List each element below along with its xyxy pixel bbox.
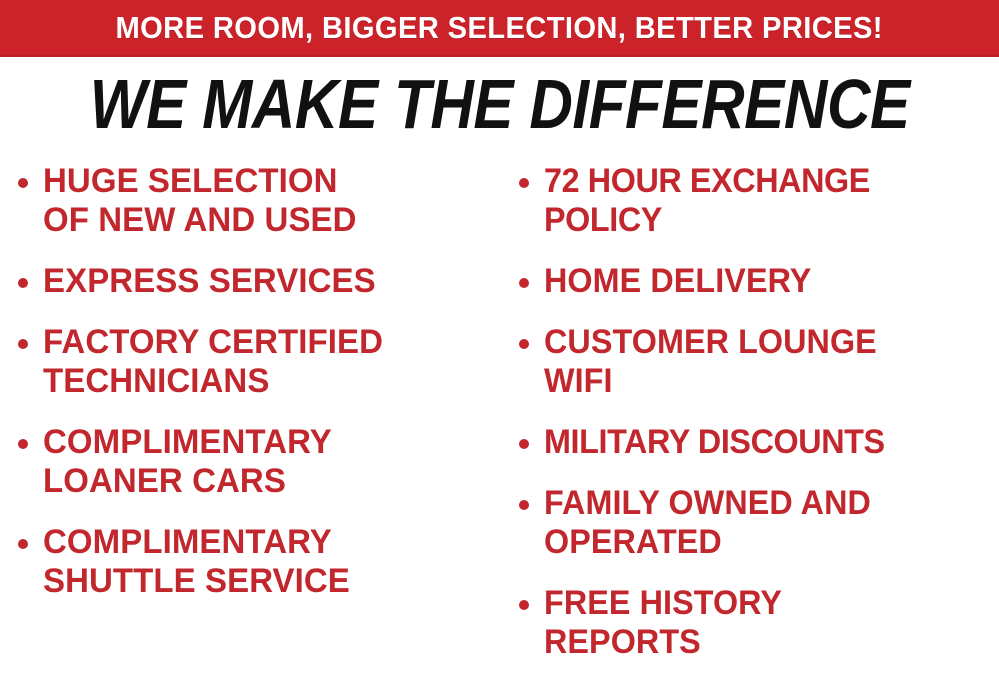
list-item: 72 HOUR EXCHANGE POLICY: [519, 162, 999, 240]
list-item-label: HUGE SELECTION OF NEW AND USED: [43, 162, 357, 240]
list-item: FACTORY CERTIFIED TECHNICIANS: [18, 323, 505, 401]
features-column-right: 72 HOUR EXCHANGE POLICY HOME DELIVERY CU…: [505, 152, 999, 684]
bullet-dot-icon: [18, 539, 28, 549]
list-item: HUGE SELECTION OF NEW AND USED: [18, 162, 505, 240]
list-item-label: COMPLIMENTARY LOANER CARS: [43, 423, 332, 501]
features-columns: HUGE SELECTION OF NEW AND USED EXPRESS S…: [0, 152, 999, 692]
list-item-label: MILITARY DISCOUNTS: [544, 423, 885, 462]
list-item: FAMILY OWNED AND OPERATED: [519, 484, 999, 562]
headline-container: WE MAKE THE DIFFERENCE: [0, 57, 999, 150]
banner-headline: MORE ROOM, BIGGER SELECTION, BETTER PRIC…: [116, 12, 883, 43]
list-item: MILITARY DISCOUNTS: [519, 423, 999, 462]
bullet-dot-icon: [519, 600, 529, 610]
list-item-label: FREE HISTORY REPORTS: [544, 584, 782, 662]
list-item-label: COMPLIMENTARY SHUTTLE SERVICE: [43, 523, 350, 601]
top-banner: MORE ROOM, BIGGER SELECTION, BETTER PRIC…: [0, 0, 999, 57]
bullet-dot-icon: [519, 439, 529, 449]
bullet-dot-icon: [18, 178, 28, 188]
bullet-dot-icon: [18, 278, 28, 288]
list-item: FREE HISTORY REPORTS: [519, 584, 999, 662]
list-item-label: FACTORY CERTIFIED TECHNICIANS: [43, 323, 383, 401]
promo-poster: MORE ROOM, BIGGER SELECTION, BETTER PRIC…: [0, 0, 999, 692]
bullet-dot-icon: [18, 439, 28, 449]
bullet-dot-icon: [519, 178, 529, 188]
bullet-dot-icon: [18, 339, 28, 349]
list-item-label: 72 HOUR EXCHANGE POLICY: [544, 162, 870, 240]
features-column-left: HUGE SELECTION OF NEW AND USED EXPRESS S…: [0, 152, 505, 623]
list-item: EXPRESS SERVICES: [18, 262, 505, 301]
list-item-label: HOME DELIVERY: [544, 262, 811, 301]
list-item-label: EXPRESS SERVICES: [43, 262, 376, 301]
bullet-dot-icon: [519, 339, 529, 349]
bullet-dot-icon: [519, 278, 529, 288]
list-item-label: CUSTOMER LOUNGE WIFI: [544, 323, 877, 401]
list-item-label: FAMILY OWNED AND OPERATED: [544, 484, 871, 562]
bullet-dot-icon: [519, 500, 529, 510]
list-item: COMPLIMENTARY SHUTTLE SERVICE: [18, 523, 505, 601]
list-item: HOME DELIVERY: [519, 262, 999, 301]
list-item: COMPLIMENTARY LOANER CARS: [18, 423, 505, 501]
page-title: WE MAKE THE DIFFERENCE: [90, 69, 910, 139]
list-item: CUSTOMER LOUNGE WIFI: [519, 323, 999, 401]
